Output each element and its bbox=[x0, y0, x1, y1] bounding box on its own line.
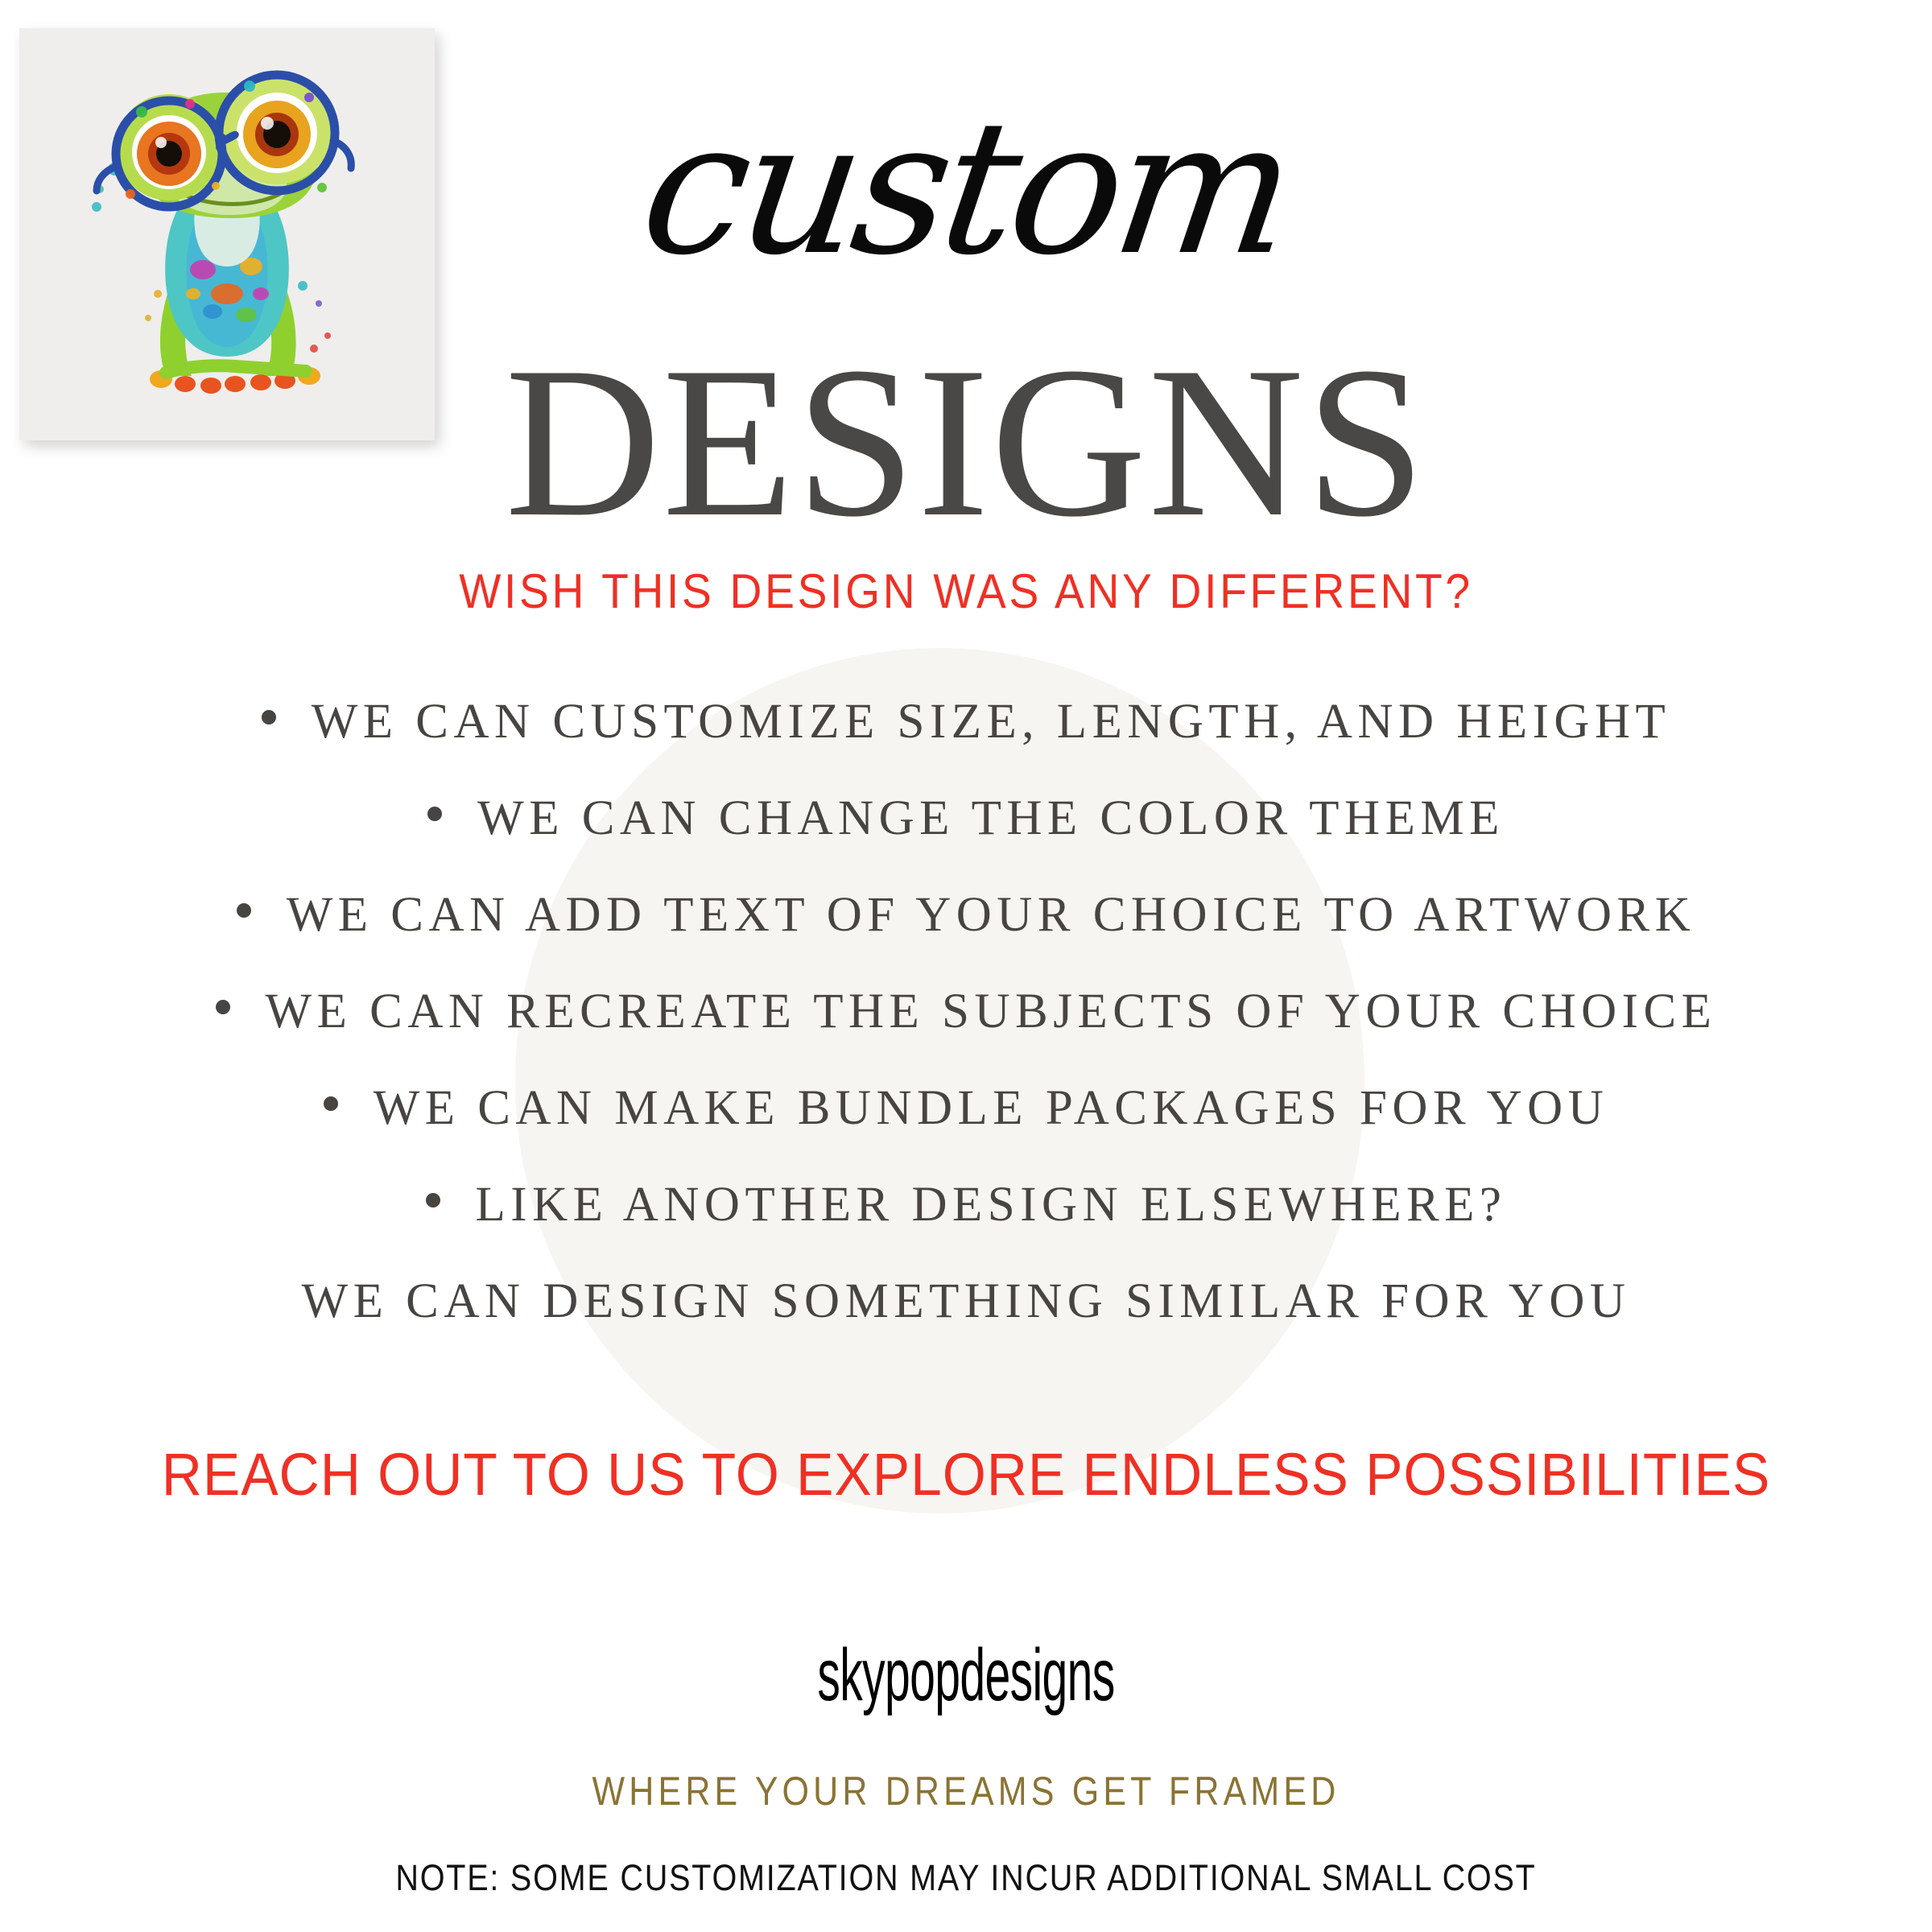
list-item: WE CAN CUSTOMIZE SIZE, LENGTH, AND HEIGH… bbox=[0, 694, 1932, 791]
bullet-dot-icon bbox=[237, 903, 251, 918]
list-item: WE CAN CHANGE THE COLOR THEME bbox=[0, 791, 1932, 887]
bullet-dot-icon bbox=[426, 1193, 440, 1207]
brand-name: skypopdesigns bbox=[367, 1638, 1565, 1712]
artwork-thumbnail[interactable] bbox=[19, 28, 435, 440]
list-item: WE CAN ADD TEXT OF YOUR CHOICE TO ARTWOR… bbox=[0, 887, 1932, 984]
list-item: WE CAN RECREATE THE SUBJECTS OF YOUR CHO… bbox=[0, 984, 1932, 1080]
list-item: WE CAN MAKE BUNDLE PACKAGES FOR YOU bbox=[0, 1080, 1932, 1177]
feature-text: WE CAN CHANGE THE COLOR THEME bbox=[477, 791, 1505, 847]
bullet-dot-icon bbox=[216, 1000, 230, 1014]
bullet-dot-icon bbox=[324, 1096, 338, 1111]
list-item-continuation: WE CAN DESIGN SOMETHING SIMILAR FOR YOU bbox=[0, 1274, 1932, 1370]
subtitle-question: WISH THIS DESIGN WAS ANY DIFFERENT? bbox=[77, 568, 1855, 616]
feature-text: WE CAN ADD TEXT OF YOUR CHOICE TO ARTWOR… bbox=[287, 887, 1696, 943]
cta-reach-out: REACH OUT TO US TO EXPLORE ENDLESS POSSI… bbox=[58, 1445, 1874, 1505]
list-item: LIKE ANOTHER DESIGN ELSEWHERE? bbox=[0, 1177, 1932, 1274]
bullet-dot-icon bbox=[427, 807, 442, 821]
brand-tagline: WHERE YOUR DREAMS GET FRAMED bbox=[135, 1771, 1797, 1811]
frog-artwork-illustration bbox=[19, 28, 435, 440]
bullet-dot-icon bbox=[262, 710, 276, 724]
feature-text: WE CAN MAKE BUNDLE PACKAGES FOR YOU bbox=[374, 1080, 1609, 1137]
feature-text: WE CAN DESIGN SOMETHING SIMILAR FOR YOU bbox=[302, 1274, 1631, 1330]
feature-list: WE CAN CUSTOMIZE SIZE, LENGTH, AND HEIGH… bbox=[0, 694, 1932, 1370]
feature-text: WE CAN CUSTOMIZE SIZE, LENGTH, AND HEIGH… bbox=[312, 694, 1671, 750]
footnote-note: NOTE: SOME CUSTOMIZATION MAY INCUR ADDIT… bbox=[116, 1860, 1816, 1896]
feature-text: LIKE ANOTHER DESIGN ELSEWHERE? bbox=[476, 1177, 1507, 1233]
feature-text: WE CAN RECREATE THE SUBJECTS OF YOUR CHO… bbox=[266, 984, 1717, 1040]
